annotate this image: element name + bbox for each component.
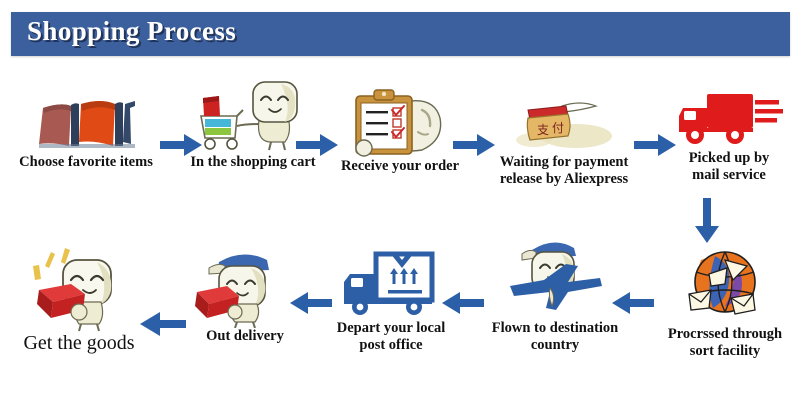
svg-text:付: 付 (552, 121, 564, 135)
svg-text:支: 支 (537, 123, 549, 137)
step-picked-up-by-mail-service[interactable]: Picked up by mail service (660, 88, 798, 183)
step-label: Choose favorite items (6, 154, 166, 171)
step-out-delivery[interactable]: Out delivery (182, 246, 308, 345)
step-choose-favorite-items[interactable]: Choose favorite items (6, 92, 166, 171)
infographic-page: Shopping Process Choose favorite items (0, 0, 800, 418)
courier-character-with-box-icon (193, 246, 297, 328)
character-on-airplane-icon (492, 234, 618, 320)
step-label: Picked up by mail service (660, 150, 798, 183)
red-delivery-truck-icon (673, 88, 785, 150)
blue-truck-with-package-icon (336, 248, 446, 320)
step-label: Receive your order (330, 158, 470, 175)
step-receive-your-order[interactable]: Receive your order (330, 88, 470, 175)
clipboard-checklist-icon (348, 88, 452, 158)
globe-with-envelopes-icon (675, 248, 775, 326)
arrow-down-connector (692, 198, 722, 251)
step-label: Get the goods (6, 332, 152, 355)
step-depart-your-local-post-office[interactable]: Depart your local post office (318, 248, 464, 353)
character-pushing-cart-icon (193, 80, 313, 154)
payment-stamp-icon: 支 付 (504, 92, 624, 154)
step-processed-through-sort-facility[interactable]: Procrssed through sort facility (652, 248, 798, 359)
step-label: Waiting for payment release by Aliexpres… (480, 154, 648, 187)
step-get-the-goods[interactable]: Get the goods (6, 246, 152, 355)
page-title: Shopping Process (27, 16, 236, 47)
step-waiting-for-payment-release[interactable]: 支 付 Waiting for payment release by Aliex… (480, 92, 648, 187)
step-label: Depart your local post office (318, 320, 464, 353)
step-label: Flown to destination country (470, 320, 640, 353)
step-label: Procrssed through sort facility (652, 326, 798, 359)
step-flown-to-destination-country[interactable]: Flown to destination country (470, 234, 640, 353)
stack-of-books-icon (31, 92, 141, 154)
page-header-banner: Shopping Process (11, 12, 790, 56)
step-label: Out delivery (182, 328, 308, 345)
happy-character-with-box-icon (19, 246, 139, 332)
